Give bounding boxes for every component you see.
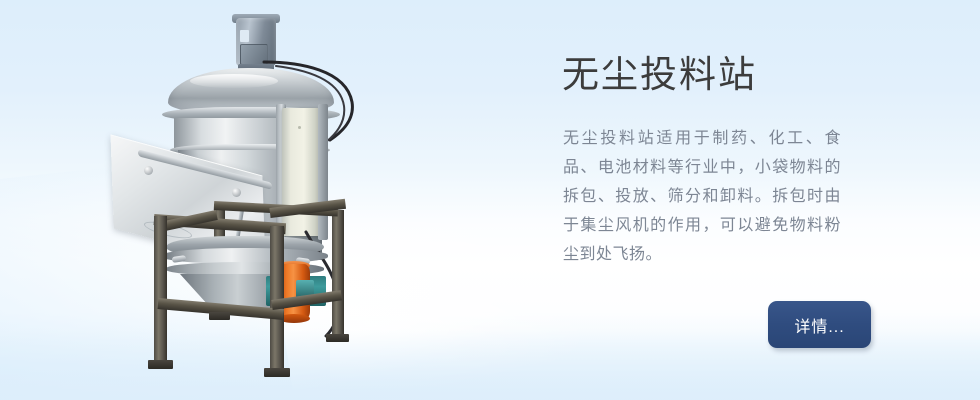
- hinge-knob-part: [144, 166, 153, 175]
- frame-foot-part: [264, 368, 290, 377]
- cabinet-indicator-part: [298, 126, 301, 129]
- product-description: 无尘投料站适用于制药、化工、食品、电池材料等行业中，小袋物料的拆包、投放、筛分和…: [563, 124, 841, 269]
- page-title: 无尘投料站: [562, 52, 757, 98]
- frame-foot-part: [326, 334, 349, 342]
- product-banner: 无尘投料站 无尘投料站适用于制药、化工、食品、电池材料等行业中，小袋物料的拆包、…: [0, 0, 980, 400]
- frame-leg-part: [332, 210, 344, 338]
- product-image: [110, 8, 370, 368]
- frame-foot-part: [209, 312, 230, 320]
- detail-button[interactable]: 详情...: [768, 301, 871, 348]
- frame-leg-part: [154, 216, 167, 364]
- frame-foot-part: [148, 360, 173, 369]
- motor-label-part: [240, 30, 249, 42]
- cabinet-right-edge-part: [318, 104, 328, 240]
- hinge-knob-part: [232, 188, 241, 197]
- control-cabinet-part: [282, 108, 322, 236]
